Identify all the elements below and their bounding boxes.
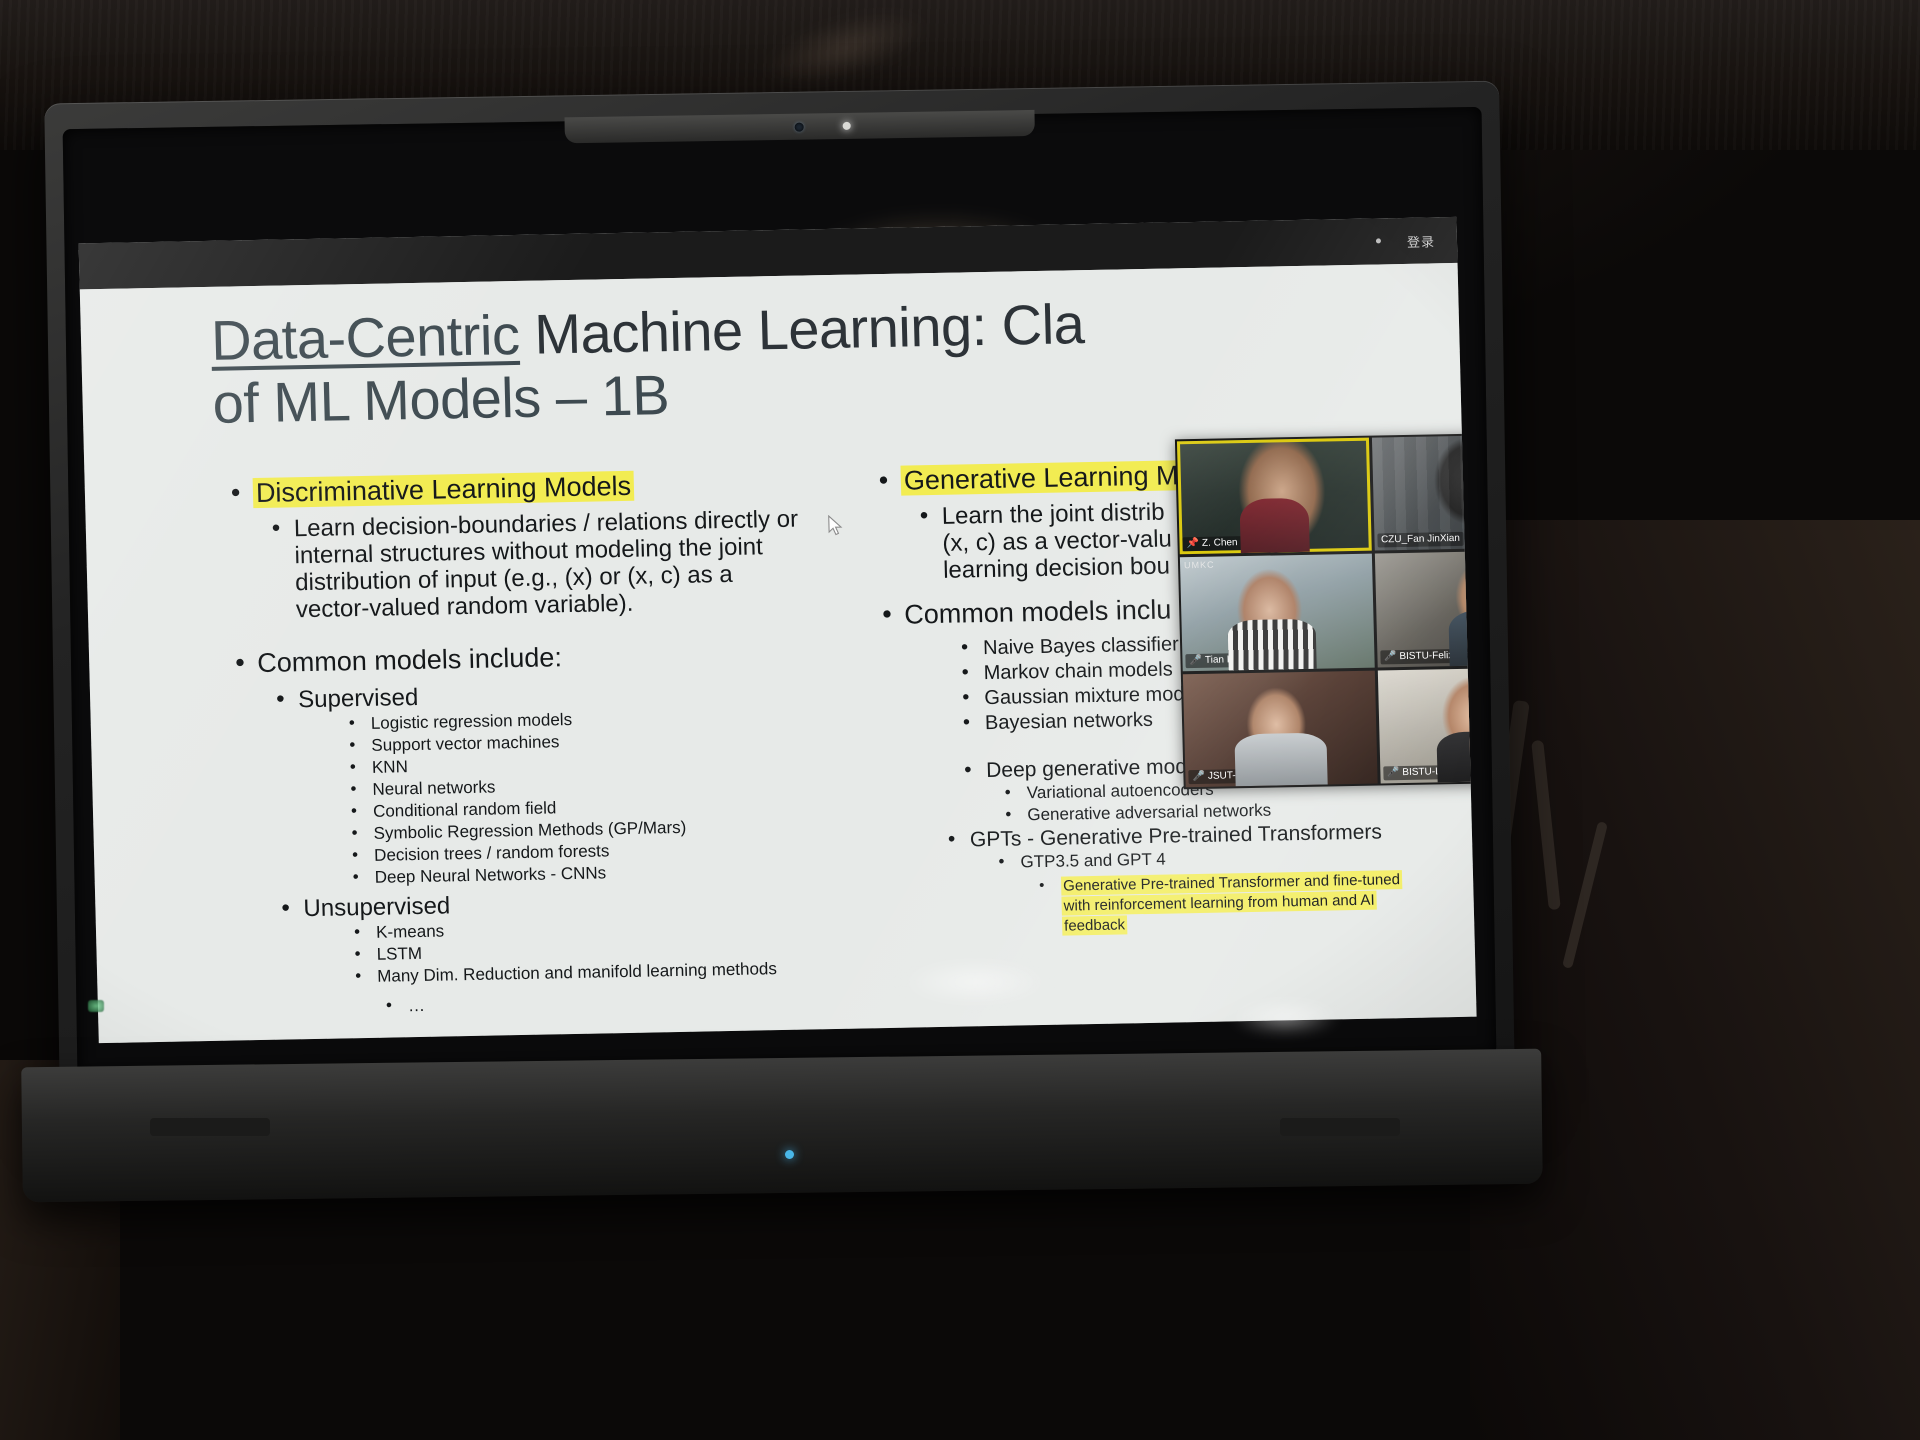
login-label[interactable]: 登录: [1407, 231, 1435, 251]
participant-name: JSUT-Micas;Ying.Chou: [1208, 769, 1311, 783]
login-dot-icon: [1376, 238, 1381, 243]
tile-glare: [1371, 434, 1476, 551]
video-conference-grid[interactable]: 📌 Z. Chen CZU_Fan JinXian UMKC: [1175, 432, 1477, 789]
video-tile[interactable]: UMKC 🎤 Tian Hao: [1180, 554, 1374, 671]
left-description-bullet: Learn decision-boundaries / relations di…: [268, 505, 851, 624]
gpt-highlight-bullet: Generative Pre-trained Transformer and f…: [1035, 869, 1476, 937]
participant-name-badge: 🎤 JSUT-Micas;Ying.Chou: [1188, 768, 1315, 784]
supervised-items: Logistic regression models Support vecto…: [233, 704, 857, 892]
participant-name-badge: 🎤 Tian Hao: [1185, 653, 1249, 668]
gpt-root: GPTs - Generative Pre-trained Transforme…: [884, 818, 1477, 940]
mic-muted-icon: 🎤: [1387, 767, 1400, 779]
list-item: …: [382, 987, 860, 1018]
mouse-cursor-icon: [828, 515, 845, 537]
discriminative-heading: Discriminative Learning Models: [253, 471, 635, 508]
title-underlined-part: Data-Centric: [210, 303, 520, 372]
participant-name-badge: 🎤 BISTU-Felix Meng: [1380, 648, 1477, 664]
webcam-indicator-led: [843, 122, 851, 130]
video-tile[interactable]: 🎤 BISTU-Felix Meng: [1374, 550, 1476, 667]
title-rest-part: Machine Learning: Cla: [519, 292, 1085, 366]
generative-heading: Generative Learning M: [900, 460, 1181, 495]
participant-name: Tian Hao: [1205, 654, 1246, 667]
participant-name-badge: 🎤 BISTU-Lynn: [1383, 765, 1461, 780]
laptop-screen: 登录 Data-Centric Machine Learning: Cla of…: [79, 217, 1477, 1043]
unsupervised-items: K-means LSTM Many Dim. Reduction and man…: [238, 913, 860, 1021]
video-tile[interactable]: 🎤 JSUT-Micas;Ying.Chou: [1183, 670, 1377, 787]
presentation-slide: Data-Centric Machine Learning: Cla of ML…: [80, 263, 1477, 1043]
laptop-lid: 登录 Data-Centric Machine Learning: Cla of…: [44, 81, 1515, 1104]
base-power-led: [785, 1150, 794, 1159]
webcam-lens-icon: [795, 123, 804, 132]
participant-name: BISTU-Lynn: [1402, 766, 1456, 779]
mic-muted-icon: 🎤: [1384, 651, 1397, 663]
power-status-led: [88, 1000, 104, 1012]
photo-of-laptop-screen: 登录 Data-Centric Machine Learning: Cla of…: [0, 0, 1920, 1440]
right-desc-line-0: Learn the joint distrib: [941, 499, 1164, 530]
participant-name-badge: CZU_Fan JinXian: [1377, 532, 1464, 548]
page-title: Data-Centric Machine Learning: Cla of ML…: [210, 288, 1303, 435]
left-common-models-root: Common models include: Supervised: [231, 635, 853, 716]
video-tile[interactable]: CZU_Fan JinXian: [1371, 434, 1476, 551]
right-desc-line-2: learning decision bou: [943, 552, 1170, 583]
left-bullet-root: Discriminative Learning Models Learn dec…: [227, 465, 851, 625]
mic-muted-icon: 🎤: [1189, 655, 1202, 667]
pin-icon: 📌: [1186, 538, 1199, 550]
mic-muted-icon: 🎤: [1192, 771, 1205, 783]
participant-name: BISTU-Felix Meng: [1399, 649, 1476, 663]
participant-name-badge: 📌 Z. Chen: [1182, 536, 1241, 551]
desk-right-area: [1470, 520, 1920, 1440]
left-content-column: Discriminative Learning Models Learn dec…: [227, 465, 861, 1021]
left-heading-bullet: Discriminative Learning Models: [227, 465, 848, 511]
gpt-highlight-line-2: feedback: [1062, 915, 1127, 935]
video-tile[interactable]: 📌 Z. Chen: [1177, 438, 1371, 555]
laptop-foot-left: [150, 1118, 270, 1136]
video-tile[interactable]: 🎤 BISTU-Lynn: [1377, 667, 1476, 784]
title-line-2: of ML Models – 1B: [212, 363, 670, 435]
participant-name: CZU_Fan JinXian: [1381, 533, 1460, 547]
laptop-foot-right: [1280, 1118, 1400, 1136]
participant-name: Z. Chen: [1202, 538, 1238, 551]
